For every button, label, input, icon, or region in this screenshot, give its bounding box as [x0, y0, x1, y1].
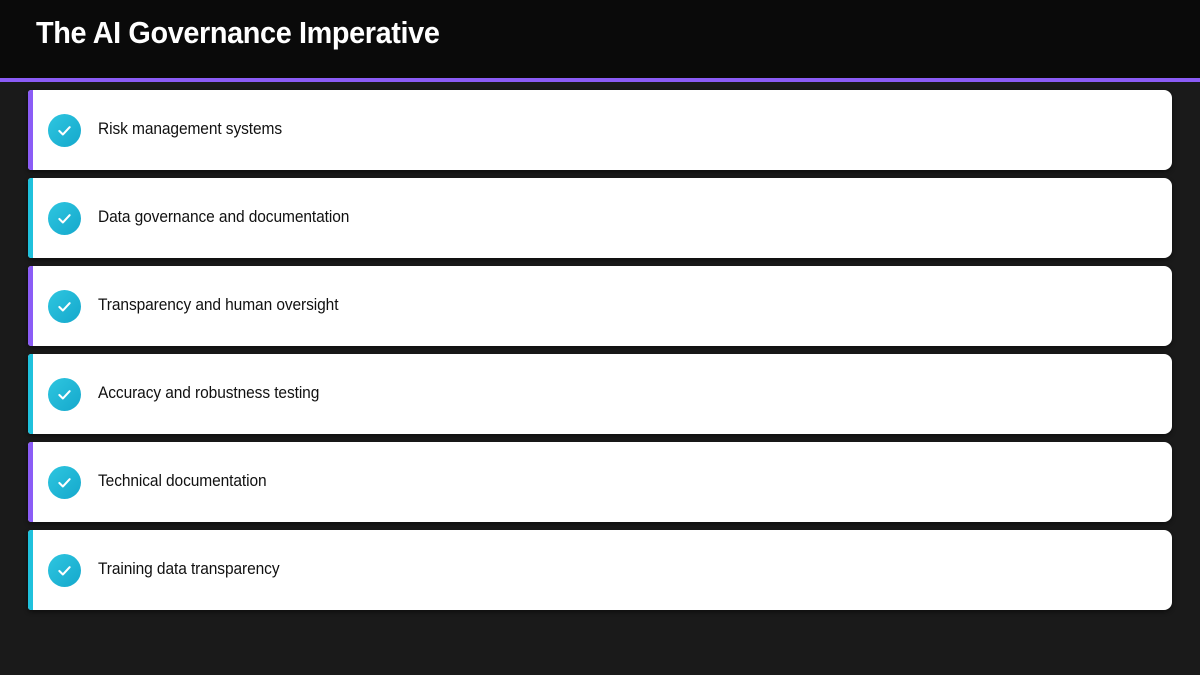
list-item-label: Risk management systems — [98, 120, 282, 140]
list-item-label: Data governance and documentation — [98, 208, 349, 228]
list-item[interactable]: Accuracy and robustness testing — [28, 354, 1172, 434]
list-item[interactable]: Technical documentation — [28, 442, 1172, 522]
check-circle-icon — [48, 378, 81, 411]
list-item-label: Training data transparency — [98, 560, 279, 580]
list-item[interactable]: Transparency and human oversight — [28, 266, 1172, 346]
list-item[interactable]: Risk management systems — [28, 90, 1172, 170]
slide-content: Risk management systems Data governance … — [0, 82, 1200, 675]
check-circle-icon — [48, 554, 81, 587]
list-item-label: Accuracy and robustness testing — [98, 384, 319, 404]
check-circle-icon — [48, 290, 81, 323]
list-item[interactable]: Training data transparency — [28, 530, 1172, 610]
slide-root: The AI Governance Imperative Risk manage… — [0, 0, 1200, 675]
check-circle-icon — [48, 466, 81, 499]
list-item-label: Transparency and human oversight — [98, 296, 338, 316]
slide-header: The AI Governance Imperative — [0, 0, 1200, 82]
card-accent-bar — [28, 266, 33, 346]
check-circle-icon — [48, 114, 81, 147]
list-item[interactable]: Data governance and documentation — [28, 178, 1172, 258]
checklist: Risk management systems Data governance … — [28, 90, 1172, 618]
card-accent-bar — [28, 90, 33, 170]
card-accent-bar — [28, 442, 33, 522]
card-accent-bar — [28, 530, 33, 610]
page-title: The AI Governance Imperative — [36, 17, 440, 50]
card-accent-bar — [28, 178, 33, 258]
check-circle-icon — [48, 202, 81, 235]
card-accent-bar — [28, 354, 33, 434]
list-item-label: Technical documentation — [98, 472, 267, 492]
